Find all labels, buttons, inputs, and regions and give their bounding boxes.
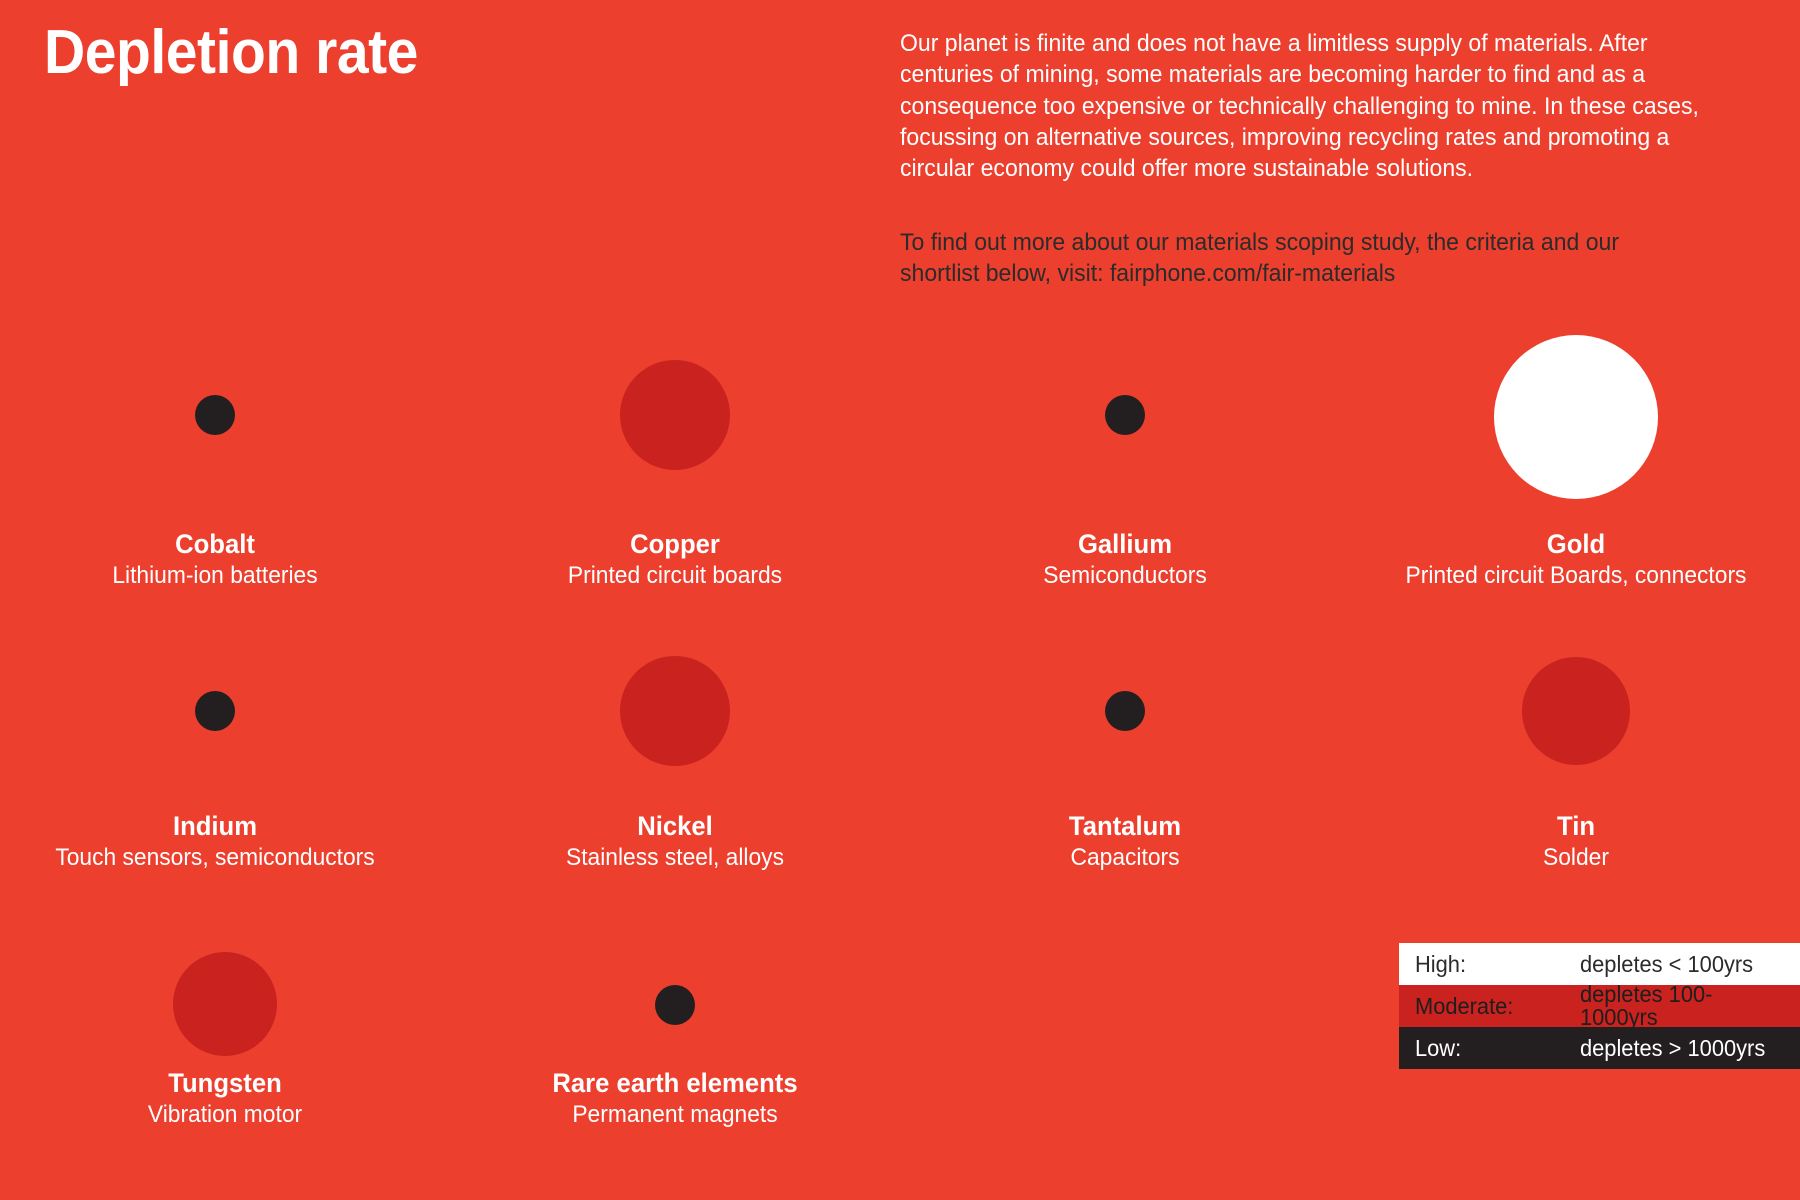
depletion-dot-gold (1494, 335, 1658, 499)
depletion-dot-nickel (620, 656, 730, 766)
legend-row-moderate: Moderate: depletes 100-1000yrs (1399, 985, 1800, 1027)
legend-value-high: depletes < 100yrs (1580, 953, 1789, 976)
depletion-dot-indium (195, 691, 235, 731)
material-use: Lithium-ion batteries (54, 563, 377, 590)
depletion-dot-cobalt (195, 395, 235, 435)
material-cell-copper[interactable]: Copper Printed circuit boards (495, 300, 855, 590)
material-cell-tantalum[interactable]: Tantalum Capacitors (955, 606, 1295, 872)
material-use: Printed circuit Boards, connectors (1396, 563, 1757, 590)
depletion-dot-gallium (1105, 395, 1145, 435)
material-use: Permanent magnets (504, 1102, 846, 1129)
material-cell-indium[interactable]: Indium Touch sensors, semiconductors (45, 606, 385, 872)
material-cell-cobalt[interactable]: Cobalt Lithium-ion batteries (45, 300, 385, 590)
material-name: Rare earth elements (504, 1069, 846, 1098)
intro-paragraph: Our planet is finite and does not have a… (900, 28, 1699, 185)
infographic-canvas: Depletion rate Our planet is finite and … (0, 0, 1800, 1200)
material-use: Capacitors (964, 845, 1287, 872)
material-use: Semiconductors (964, 563, 1287, 590)
depletion-dot-rare-earth-elements (655, 985, 695, 1025)
material-cell-tungsten[interactable]: Tungsten Vibration motor (45, 863, 405, 1129)
material-cell-rare-earth-elements[interactable]: Rare earth elements Permanent magnets (495, 863, 855, 1129)
material-name: Tantalum (964, 812, 1287, 841)
legend-label-moderate: Moderate: (1415, 995, 1572, 1018)
material-cell-gold[interactable]: Gold Printed circuit Boards, connectors (1386, 300, 1766, 590)
page-title: Depletion rate (44, 22, 418, 84)
depletion-dot-tantalum (1105, 691, 1145, 731)
material-name: Gold (1396, 530, 1757, 559)
legend-value-low: depletes > 1000yrs (1580, 1037, 1789, 1060)
material-name: Tin (1396, 812, 1757, 841)
legend-label-high: High: (1415, 953, 1572, 976)
depletion-dot-tin (1522, 657, 1630, 765)
material-name: Nickel (504, 812, 846, 841)
material-cell-tin[interactable]: Tin Solder (1386, 606, 1766, 872)
material-cell-nickel[interactable]: Nickel Stainless steel, alloys (495, 606, 855, 872)
material-use: Solder (1396, 845, 1757, 872)
material-use: Printed circuit boards (504, 563, 846, 590)
intro-cta: To find out more about our materials sco… (900, 227, 1652, 290)
legend-row-high: High: depletes < 100yrs (1399, 943, 1800, 985)
material-name: Indium (54, 812, 377, 841)
legend-row-low: Low: depletes > 1000yrs (1399, 1027, 1800, 1069)
material-name: Copper (504, 530, 846, 559)
depletion-dot-tungsten (173, 952, 277, 1056)
legend-value-moderate: depletes 100-1000yrs (1580, 983, 1789, 1029)
material-cell-gallium[interactable]: Gallium Semiconductors (955, 300, 1295, 590)
legend: High: depletes < 100yrs Moderate: deplet… (1399, 943, 1800, 1069)
depletion-dot-copper (620, 360, 730, 470)
material-name: Gallium (964, 530, 1287, 559)
material-use: Vibration motor (54, 1102, 396, 1129)
material-name: Cobalt (54, 530, 377, 559)
legend-label-low: Low: (1415, 1037, 1572, 1060)
material-name: Tungsten (54, 1069, 396, 1098)
